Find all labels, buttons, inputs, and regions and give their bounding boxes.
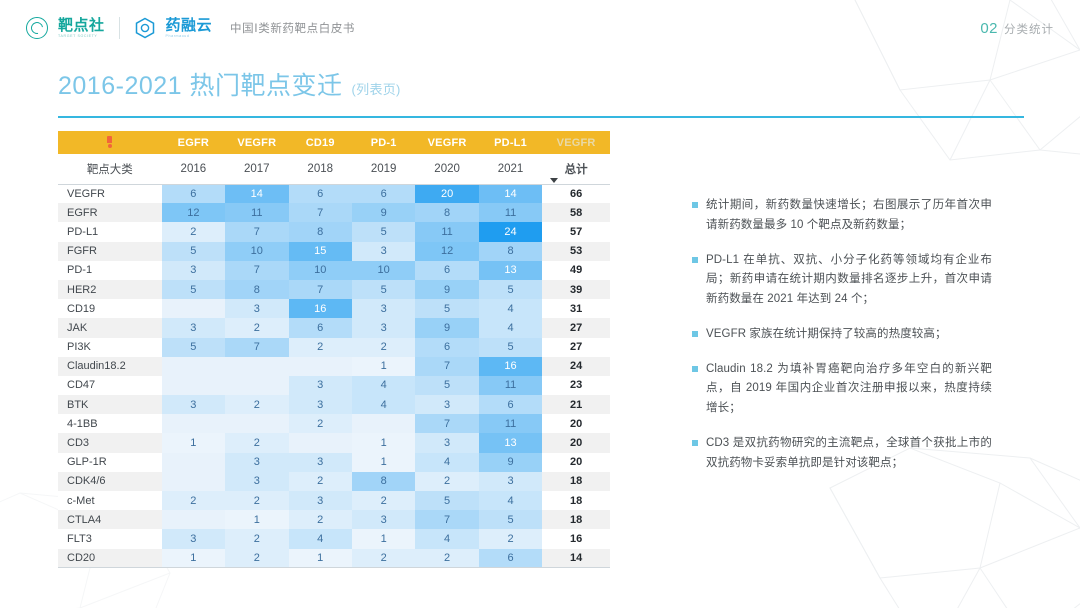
table-row[interactable]: FGFR51015312853: [58, 242, 610, 261]
table-row[interactable]: CD312131320: [58, 433, 610, 452]
cell-her2-2019: 5: [352, 280, 415, 299]
row-label-4-1bb: 4-1BB: [58, 414, 162, 433]
cell-cd47-2018: 3: [289, 376, 352, 395]
cell-cdk4-6-2021: 3: [479, 472, 542, 491]
bullet-square-icon: [692, 257, 698, 263]
cell-total-cd47: 23: [542, 376, 610, 395]
cell-flt3-2019: 1: [352, 529, 415, 548]
cell-pi3k-2016: 5: [162, 338, 225, 357]
target-header-7[interactable]: VEGFR: [542, 131, 610, 154]
cell-total-jak: 27: [542, 318, 610, 337]
table-row[interactable]: CD1931635431: [58, 299, 610, 318]
cell-egfr-2021: 11: [479, 203, 542, 222]
table-header-row-years: 靶点大类 201620172018201920202021总计: [58, 154, 610, 184]
cell-total-cd3: 20: [542, 433, 610, 452]
target-header-5[interactable]: VEGFR: [415, 131, 478, 154]
cell-fgfr-2021: 8: [479, 242, 542, 261]
column-header-category[interactable]: 靶点大类: [58, 154, 162, 184]
cell-ctla4-2020: 7: [415, 510, 478, 529]
row-label-c-met: c-Met: [58, 491, 162, 510]
page-subtitle: (列表页): [352, 79, 401, 98]
insight-text: PD-L1 在单抗、双抗、小分子化药等领域均有企业布局；新药申请在统计期内数量排…: [706, 251, 992, 310]
cell-total-cd19: 31: [542, 299, 610, 318]
cell-flt3-2016: 3: [162, 529, 225, 548]
cell-c-met-2019: 2: [352, 491, 415, 510]
column-header-year-2016[interactable]: 2016: [162, 154, 225, 184]
row-label-jak: JAK: [58, 318, 162, 337]
logo1-name-en: TARGET SOCIETY: [58, 35, 105, 39]
insight-text: 统计期间，新药数量快速增长；右图展示了历年首次申请新药数量最多 10 个靶点及新…: [706, 196, 992, 236]
cell-pi3k-2020: 6: [415, 338, 478, 357]
logo-pharmaoud: 药融云 Pharmaoud: [134, 17, 213, 39]
insight-text: CD3 是双抗药物研究的主流靶点，全球首个获批上市的双抗药物卡妥索单抗即是针对该…: [706, 434, 992, 474]
page-title-block: 2016-2021 热门靶点变迁 (列表页): [58, 66, 401, 102]
cell-her2-2021: 5: [479, 280, 542, 299]
slide-page: 靶点社 TARGET SOCIETY 药融云 Pharmaoud 中国Ⅰ类新药靶…: [0, 0, 1080, 608]
table-row[interactable]: PI3K57226527: [58, 338, 610, 357]
table-row[interactable]: CD473451123: [58, 376, 610, 395]
cell-jak-2019: 3: [352, 318, 415, 337]
cell-glp-1r-2016: [162, 453, 225, 472]
table-row[interactable]: BTK32343621: [58, 395, 610, 414]
cell-flt3-2021: 2: [479, 529, 542, 548]
cell-ctla4-2017: 1: [225, 510, 288, 529]
cell-claudin18-2-2019: 1: [352, 357, 415, 376]
table-row[interactable]: Claudin18.2171624: [58, 357, 610, 376]
cell-cd19-2021: 4: [479, 299, 542, 318]
table-row[interactable]: GLP-1R3314920: [58, 453, 610, 472]
cell-c-met-2021: 4: [479, 491, 542, 510]
sort-descending-icon[interactable]: [550, 178, 558, 183]
cell-pi3k-2018: 2: [289, 338, 352, 357]
target-header-3[interactable]: CD19: [289, 131, 352, 154]
cell-pi3k-2019: 2: [352, 338, 415, 357]
cell-4-1bb-2018: 2: [289, 414, 352, 433]
cell-cd20-2021: 6: [479, 549, 542, 568]
cell-glp-1r-2020: 4: [415, 453, 478, 472]
cell-total-cd20: 14: [542, 549, 610, 568]
cell-cd19-2016: [162, 299, 225, 318]
cell-flt3-2020: 4: [415, 529, 478, 548]
table-header-row-targets: EGFRVEGFRCD19PD-1VEGFRPD-L1VEGFR: [58, 131, 610, 154]
cell-pd-1-2020: 6: [415, 261, 478, 280]
row-label-glp-1r: GLP-1R: [58, 453, 162, 472]
target-header-1[interactable]: EGFR: [162, 131, 225, 154]
insight-item: PD-L1 在单抗、双抗、小分子化药等领域均有企业布局；新药申请在统计期内数量排…: [692, 251, 992, 310]
cell-total-vegfr: 66: [542, 184, 610, 203]
cell-ctla4-2018: 2: [289, 510, 352, 529]
cell-her2-2020: 9: [415, 280, 478, 299]
cell-btk-2021: 6: [479, 395, 542, 414]
cell-cd20-2019: 2: [352, 549, 415, 568]
cell-jak-2017: 2: [225, 318, 288, 337]
cell-vegfr-2021: 14: [479, 184, 542, 203]
cell-cd19-2018: 16: [289, 299, 352, 318]
cell-fgfr-2019: 3: [352, 242, 415, 261]
row-label-cd47: CD47: [58, 376, 162, 395]
cell-pd-l1-2020: 11: [415, 222, 478, 241]
cell-vegfr-2020: 20: [415, 184, 478, 203]
cell-cd3-2017: 2: [225, 433, 288, 452]
cell-pd-1-2018: 10: [289, 261, 352, 280]
cell-cd3-2019: 1: [352, 433, 415, 452]
cell-total-glp-1r: 20: [542, 453, 610, 472]
logo-target-society: 靶点社 TARGET SOCIETY: [26, 17, 105, 39]
row-label-cd3: CD3: [58, 433, 162, 452]
filter-icon: [107, 136, 112, 148]
insight-item: VEGFR 家族在统计期保持了较高的热度较高；: [692, 325, 992, 345]
cell-c-met-2020: 5: [415, 491, 478, 510]
cell-cd20-2018: 1: [289, 549, 352, 568]
table-row[interactable]: CTLA41237518: [58, 510, 610, 529]
page-title: 2016-2021 热门靶点变迁: [58, 66, 343, 102]
row-label-cd19: CD19: [58, 299, 162, 318]
bullet-square-icon: [692, 331, 698, 337]
cell-total-her2: 39: [542, 280, 610, 299]
cell-total-ctla4: 18: [542, 510, 610, 529]
cell-cd47-2016: [162, 376, 225, 395]
section-label: 分类统计: [1004, 21, 1054, 37]
cell-fgfr-2016: 5: [162, 242, 225, 261]
cell-glp-1r-2018: 3: [289, 453, 352, 472]
cell-her2-2018: 7: [289, 280, 352, 299]
title-underline: [58, 116, 1024, 118]
cell-cdk4-6-2016: [162, 472, 225, 491]
insight-item: Claudin 18.2 为填补胃癌靶向治疗多年空白的新兴靶点，自 2019 年…: [692, 360, 992, 419]
cell-total-fgfr: 53: [542, 242, 610, 261]
cell-claudin18-2-2021: 16: [479, 357, 542, 376]
row-label-egfr: EGFR: [58, 203, 162, 222]
table-row[interactable]: 4-1BB271120: [58, 414, 610, 433]
cell-claudin18-2-2020: 7: [415, 357, 478, 376]
cell-her2-2017: 8: [225, 280, 288, 299]
cell-vegfr-2016: 6: [162, 184, 225, 203]
cell-pd-1-2021: 13: [479, 261, 542, 280]
cell-egfr-2020: 8: [415, 203, 478, 222]
cell-jak-2018: 6: [289, 318, 352, 337]
column-header-year-2018[interactable]: 2018: [289, 154, 352, 184]
cell-pd-l1-2018: 8: [289, 222, 352, 241]
cell-pi3k-2021: 5: [479, 338, 542, 357]
cell-cd47-2019: 4: [352, 376, 415, 395]
cell-fgfr-2020: 12: [415, 242, 478, 261]
page-header: 靶点社 TARGET SOCIETY 药融云 Pharmaoud 中国Ⅰ类新药靶…: [0, 0, 1080, 56]
row-label-pd-l1: PD-L1: [58, 222, 162, 241]
row-label-vegfr: VEGFR: [58, 184, 162, 203]
cell-jak-2020: 9: [415, 318, 478, 337]
cell-claudin18-2-2018: [289, 357, 352, 376]
cell-pi3k-2017: 7: [225, 338, 288, 357]
cell-egfr-2018: 7: [289, 203, 352, 222]
row-label-cdk4-6: CDK4/6: [58, 472, 162, 491]
header-subtitle: 中国Ⅰ类新药靶点白皮书: [230, 20, 355, 36]
logo-divider: [119, 17, 120, 39]
cell-egfr-2017: 11: [225, 203, 288, 222]
cell-btk-2016: 3: [162, 395, 225, 414]
section-indicator: 02 分类统计: [980, 20, 1054, 37]
cell-total-c-met: 18: [542, 491, 610, 510]
cell-vegfr-2018: 6: [289, 184, 352, 203]
cell-pd-l1-2016: 2: [162, 222, 225, 241]
cell-cdk4-6-2017: 3: [225, 472, 288, 491]
cell-cd47-2020: 5: [415, 376, 478, 395]
column-header-total[interactable]: 总计: [542, 154, 610, 184]
cell-cd20-2017: 2: [225, 549, 288, 568]
table-row[interactable]: PD-137101061349: [58, 261, 610, 280]
targets-table-container: EGFRVEGFRCD19PD-1VEGFRPD-L1VEGFR 靶点大类 20…: [58, 131, 610, 568]
cell-cdk4-6-2020: 2: [415, 472, 478, 491]
bullet-square-icon: [692, 202, 698, 208]
cell-cd3-2021: 13: [479, 433, 542, 452]
cell-cd20-2016: 1: [162, 549, 225, 568]
cell-btk-2019: 4: [352, 395, 415, 414]
cell-pd-l1-2017: 7: [225, 222, 288, 241]
cell-pd-l1-2019: 5: [352, 222, 415, 241]
cell-fgfr-2018: 15: [289, 242, 352, 261]
cell-total-egfr: 58: [542, 203, 610, 222]
cell-total-claudin18-2: 24: [542, 357, 610, 376]
cell-total-cdk4-6: 18: [542, 472, 610, 491]
table-row[interactable]: CDK4/63282318: [58, 472, 610, 491]
row-label-pi3k: PI3K: [58, 338, 162, 357]
logo1-name-cn: 靶点社: [58, 18, 105, 33]
table-row[interactable]: EGFR12117981158: [58, 203, 610, 222]
cell-cd3-2016: 1: [162, 433, 225, 452]
cell-cdk4-6-2019: 8: [352, 472, 415, 491]
cell-ctla4-2019: 3: [352, 510, 415, 529]
cell-4-1bb-2019: [352, 414, 415, 433]
table-row[interactable]: CD2012122614: [58, 549, 610, 568]
filter-header-cell[interactable]: [58, 131, 162, 154]
cell-her2-2016: 5: [162, 280, 225, 299]
cell-pd-1-2019: 10: [352, 261, 415, 280]
row-label-cd20: CD20: [58, 549, 162, 568]
cell-cd19-2017: 3: [225, 299, 288, 318]
cell-btk-2020: 3: [415, 395, 478, 414]
bullet-square-icon: [692, 366, 698, 372]
cell-cdk4-6-2018: 2: [289, 472, 352, 491]
target-header-6[interactable]: PD-L1: [479, 131, 542, 154]
target-header-4[interactable]: PD-1: [352, 131, 415, 154]
cell-4-1bb-2017: [225, 414, 288, 433]
column-header-year-2020[interactable]: 2020: [415, 154, 478, 184]
cell-glp-1r-2019: 1: [352, 453, 415, 472]
row-label-ctla4: CTLA4: [58, 510, 162, 529]
table-row[interactable]: JAK32639427: [58, 318, 610, 337]
column-header-year-2017[interactable]: 2017: [225, 154, 288, 184]
table-row[interactable]: c-Met22325418: [58, 491, 610, 510]
cell-total-pi3k: 27: [542, 338, 610, 357]
insights-list: 统计期间，新药数量快速增长；右图展示了历年首次申请新药数量最多 10 个靶点及新…: [692, 196, 992, 488]
cell-cd19-2020: 5: [415, 299, 478, 318]
table-row[interactable]: PD-L12785112457: [58, 222, 610, 241]
section-number: 02: [980, 20, 998, 37]
table-body: VEGFR61466201466EGFR12117981158PD-L12785…: [58, 184, 610, 568]
logo2-name-cn: 药融云: [166, 18, 213, 33]
cell-pd-l1-2021: 24: [479, 222, 542, 241]
cell-egfr-2016: 12: [162, 203, 225, 222]
cell-cd20-2020: 2: [415, 549, 478, 568]
cell-vegfr-2019: 6: [352, 184, 415, 203]
cell-fgfr-2017: 10: [225, 242, 288, 261]
cell-ctla4-2021: 5: [479, 510, 542, 529]
cell-cd3-2020: 3: [415, 433, 478, 452]
cell-c-met-2017: 2: [225, 491, 288, 510]
cell-c-met-2018: 3: [289, 491, 352, 510]
cell-jak-2021: 4: [479, 318, 542, 337]
row-label-her2: HER2: [58, 280, 162, 299]
table-head: EGFRVEGFRCD19PD-1VEGFRPD-L1VEGFR 靶点大类 20…: [58, 131, 610, 184]
cell-glp-1r-2017: 3: [225, 453, 288, 472]
targets-table: EGFRVEGFRCD19PD-1VEGFRPD-L1VEGFR 靶点大类 20…: [58, 131, 610, 568]
table-row[interactable]: FLT332414216: [58, 529, 610, 548]
table-row[interactable]: HER258759539: [58, 280, 610, 299]
column-header-year-2021[interactable]: 2021: [479, 154, 542, 184]
cell-claudin18-2-2016: [162, 357, 225, 376]
cell-total-btk: 21: [542, 395, 610, 414]
cell-total-pd-l1: 57: [542, 222, 610, 241]
cell-total-4-1bb: 20: [542, 414, 610, 433]
target-society-logo-icon: [26, 17, 48, 39]
cell-vegfr-2017: 14: [225, 184, 288, 203]
cell-pd-1-2017: 7: [225, 261, 288, 280]
insight-text: Claudin 18.2 为填补胃癌靶向治疗多年空白的新兴靶点，自 2019 年…: [706, 360, 992, 419]
cell-btk-2018: 3: [289, 395, 352, 414]
target-header-2[interactable]: VEGFR: [225, 131, 288, 154]
cell-4-1bb-2020: 7: [415, 414, 478, 433]
cell-egfr-2019: 9: [352, 203, 415, 222]
logo2-name-en: Pharmaoud: [166, 35, 213, 39]
cell-pd-1-2016: 3: [162, 261, 225, 280]
row-label-flt3: FLT3: [58, 529, 162, 548]
pharmaoud-logo-icon: [134, 17, 156, 39]
cell-ctla4-2016: [162, 510, 225, 529]
insight-text: VEGFR 家族在统计期保持了较高的热度较高；: [706, 325, 947, 345]
insight-item: CD3 是双抗药物研究的主流靶点，全球首个获批上市的双抗药物卡妥索单抗即是针对该…: [692, 434, 992, 474]
bullet-square-icon: [692, 440, 698, 446]
insight-item: 统计期间，新药数量快速增长；右图展示了历年首次申请新药数量最多 10 个靶点及新…: [692, 196, 992, 236]
cell-flt3-2018: 4: [289, 529, 352, 548]
cell-total-flt3: 16: [542, 529, 610, 548]
cell-c-met-2016: 2: [162, 491, 225, 510]
cell-cd3-2018: [289, 433, 352, 452]
table-row[interactable]: VEGFR61466201466: [58, 184, 610, 203]
row-label-claudin18-2: Claudin18.2: [58, 357, 162, 376]
cell-cd47-2017: [225, 376, 288, 395]
cell-4-1bb-2021: 11: [479, 414, 542, 433]
cell-total-pd-1: 49: [542, 261, 610, 280]
row-label-pd-1: PD-1: [58, 261, 162, 280]
row-label-fgfr: FGFR: [58, 242, 162, 261]
cell-claudin18-2-2017: [225, 357, 288, 376]
cell-4-1bb-2016: [162, 414, 225, 433]
cell-flt3-2017: 2: [225, 529, 288, 548]
cell-btk-2017: 2: [225, 395, 288, 414]
cell-cd19-2019: 3: [352, 299, 415, 318]
cell-jak-2016: 3: [162, 318, 225, 337]
column-header-year-2019[interactable]: 2019: [352, 154, 415, 184]
cell-glp-1r-2021: 9: [479, 453, 542, 472]
cell-cd47-2021: 11: [479, 376, 542, 395]
row-label-btk: BTK: [58, 395, 162, 414]
